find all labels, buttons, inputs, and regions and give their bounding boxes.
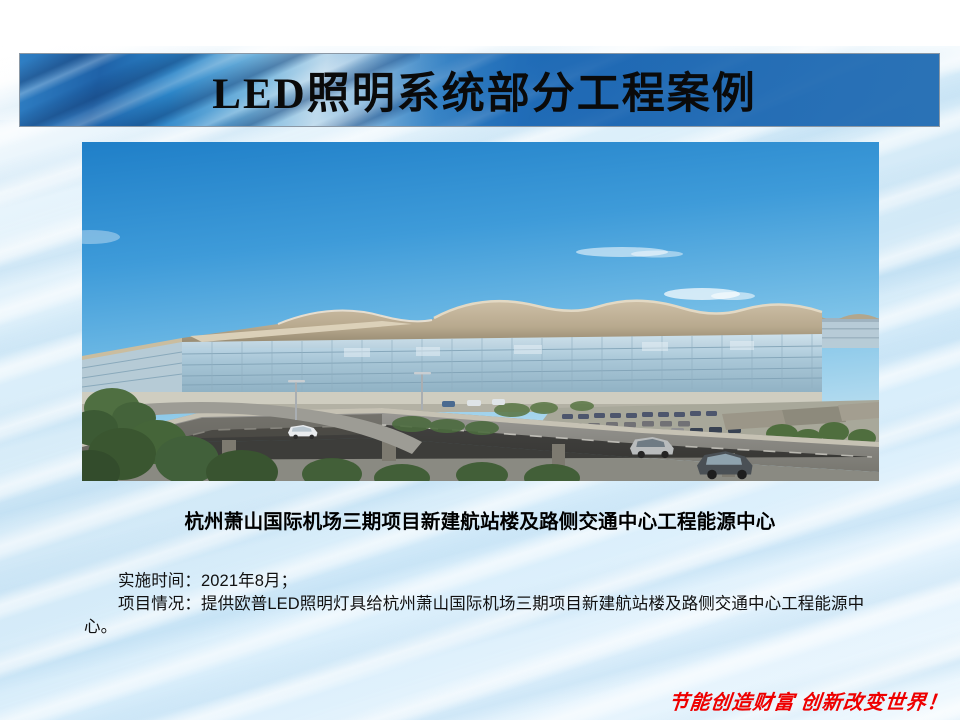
airport-terminal-rendering bbox=[82, 142, 879, 481]
project-detail-line: 项目情况：提供欧普LED照明灯具给杭州萧山国际机场三期项目新建航站楼及路侧交通中… bbox=[84, 593, 874, 639]
project-photo bbox=[82, 142, 879, 481]
photo-caption: 杭州萧山国际机场三期项目新建航站楼及路侧交通中心工程能源中心 bbox=[0, 505, 960, 534]
footer-slogan: 节能创造财富 创新改变世界！ bbox=[667, 686, 949, 715]
title-banner: LED照明系统部分工程案例 bbox=[19, 53, 940, 127]
implementation-time-line: 实施时间：2021年8月； bbox=[84, 570, 874, 593]
slide-title: LED照明系统部分工程案例 bbox=[20, 59, 939, 121]
project-description: 实施时间：2021年8月； 项目情况：提供欧普LED照明灯具给杭州萧山国际机场三… bbox=[84, 570, 874, 639]
slide: LED照明系统部分工程案例 bbox=[0, 0, 960, 720]
